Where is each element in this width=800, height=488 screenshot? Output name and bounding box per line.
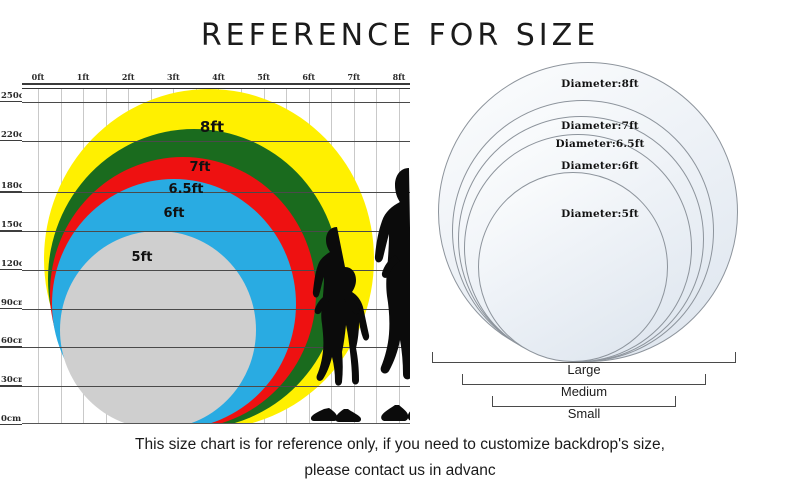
ring-label-5ft: 5ft [132, 250, 153, 265]
gridline-horizontal [22, 192, 410, 193]
x-tick-label-2ft: 2ft [122, 72, 135, 82]
gridline-vertical [38, 89, 39, 423]
y-tick-mark [0, 308, 22, 309]
bracket-label-small: Small [568, 406, 601, 421]
disc-label-diameter-5ft: Diameter:5ft [561, 208, 639, 220]
disclaimer-caption: This size chart is for reference only, i… [0, 432, 800, 484]
ring-label-6.5ft: 6.5ft [169, 182, 204, 197]
y-tick-mark [0, 191, 22, 192]
y-tick-mark [0, 346, 22, 347]
x-tick-label-4ft: 4ft [212, 72, 225, 82]
y-tick-mark [0, 140, 22, 141]
page-title: REFERENCE FOR SIZE [0, 18, 800, 53]
disc-diameter-diagram: Diameter:8ftDiameter:7ftDiameter:6.5ftDi… [430, 60, 800, 370]
gridline-horizontal [22, 141, 410, 142]
x-tick-label-7ft: 7ft [347, 72, 360, 82]
woman-silhouette [372, 165, 410, 423]
disc-label-diameter-8ft: Diameter:8ft [561, 78, 639, 90]
size-reference-chart: REFERENCE FOR SIZE 0ft1ft2ft3ft4ft5ft6ft… [0, 0, 800, 488]
disc-label-diameter-6.5ft: Diameter:6.5ft [555, 138, 644, 150]
ring-label-8ft: 8ft [200, 118, 224, 136]
x-tick-label-5ft: 5ft [257, 72, 270, 82]
y-tick-label-0: 0cm [1, 414, 21, 424]
x-tick-label-3ft: 3ft [167, 72, 180, 82]
x-tick-label-0ft: 0ft [32, 72, 45, 82]
x-axis-line [22, 83, 410, 85]
y-tick-mark [0, 424, 22, 425]
y-tick-mark [0, 230, 22, 231]
x-tick-label-8ft: 8ft [393, 72, 406, 82]
height-comparison-chart: 0ft1ft2ft3ft4ft5ft6ft7ft8ft 250cm220cm18… [0, 70, 430, 430]
child-silhouette [304, 223, 370, 423]
y-tick-mark [0, 101, 22, 102]
size-bracket-group: Large Medium Small [420, 352, 800, 430]
x-tick-label-6ft: 6ft [302, 72, 315, 82]
disc-diameter-5ft [478, 172, 668, 362]
caption-line-1: This size chart is for reference only, i… [0, 432, 800, 458]
disc-label-diameter-7ft: Diameter:7ft [561, 120, 639, 132]
backdrop-ring-5ft [60, 231, 256, 424]
ring-label-7ft: 7ft [190, 160, 211, 175]
ring-label-6ft: 6ft [164, 206, 185, 221]
y-tick-mark [0, 269, 22, 270]
caption-line-2: please contact us in advanc [0, 458, 800, 484]
y-tick-mark [0, 385, 22, 386]
gridline-horizontal [22, 102, 410, 103]
x-tick-label-1ft: 1ft [77, 72, 90, 82]
disc-label-diameter-6ft: Diameter:6ft [561, 160, 639, 172]
chart-plot-area [22, 88, 410, 424]
